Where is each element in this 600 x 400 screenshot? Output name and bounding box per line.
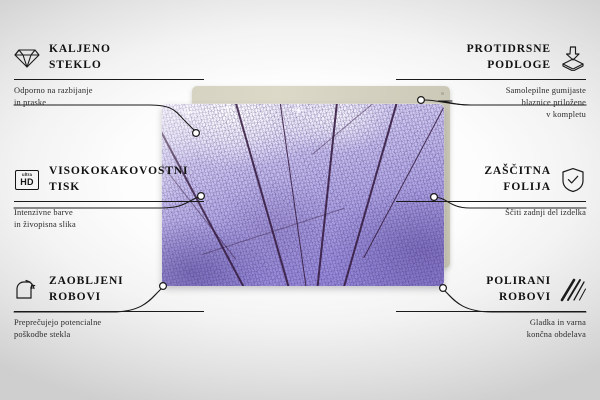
- feature-header: ultra HD VISOKOKAKOVOSTNI TISK: [14, 162, 204, 198]
- feature-rounded-edges: ZAOBLJENI ROBOVI Preprečujejo potencialn…: [14, 272, 204, 341]
- divider: [396, 79, 586, 80]
- feature-title: POLIRANI ROBOVI: [486, 274, 551, 305]
- divider: [396, 201, 586, 202]
- feature-header: POLIRANI ROBOVI: [396, 272, 586, 308]
- feature-anti-slip-pads: PROTIDRSNE PODLOGE Samolepilne gumijaste…: [396, 40, 586, 122]
- rounded-corner-arrow-icon: [14, 277, 40, 303]
- feature-desc-line: poškodbe stekla: [14, 329, 204, 341]
- feature-desc-line: in živopisna slika: [14, 219, 204, 231]
- ultra-hd-icon-main-label: HD: [20, 178, 33, 187]
- feature-desc-line: Ščiti zadnji del izdelka: [396, 207, 586, 219]
- feature-title: KALJENO STEKLO: [49, 42, 111, 73]
- feature-desc-line: v kompletu: [396, 109, 586, 121]
- feature-title: PROTIDRSNE PODLOGE: [467, 42, 551, 73]
- ultra-hd-icon: ultra HD: [14, 167, 40, 193]
- feature-title: VISOKOKAKOVOSTNI TISK: [49, 164, 188, 195]
- connector-dot-tempered-glass: [193, 130, 200, 137]
- divider: [14, 201, 204, 202]
- arrow-down-onto-pad-icon: [560, 45, 586, 71]
- feature-header: ZAŠČITNA FOLIJA: [396, 162, 586, 198]
- feature-high-quality-print: ultra HD VISOKOKAKOVOSTNI TISK Intenzivn…: [14, 162, 204, 231]
- feature-desc-line: Gladka in varna: [396, 317, 586, 329]
- feature-tempered-glass: KALJENO STEKLO Odporno na razbijanje in …: [14, 40, 204, 109]
- diagonal-lines-icon: [560, 277, 586, 303]
- feature-title: ZAŠČITNA FOLIJA: [484, 164, 551, 195]
- feature-desc-line: blaznice priložene: [396, 97, 586, 109]
- feature-desc-line: Preprečujejo potencialne: [14, 317, 204, 329]
- divider: [14, 79, 204, 80]
- divider: [14, 311, 204, 312]
- feature-polished-edges: POLIRANI ROBOVI Gladka in varna končna o…: [396, 272, 586, 341]
- feature-header: PROTIDRSNE PODLOGE: [396, 40, 586, 76]
- feature-desc-line: Samolepilne gumijaste: [396, 85, 586, 97]
- divider: [396, 311, 586, 312]
- feature-desc-line: Odporno na razbijanje: [14, 85, 204, 97]
- feature-desc-line: in praske: [14, 97, 204, 109]
- feature-header: ZAOBLJENI ROBOVI: [14, 272, 204, 308]
- shield-check-icon: [560, 167, 586, 193]
- feature-desc-line: Intenzivne barve: [14, 207, 204, 219]
- feature-header: KALJENO STEKLO: [14, 40, 204, 76]
- product-infographic: KALJENO STEKLO Odporno na razbijanje in …: [0, 0, 600, 400]
- feature-title: ZAOBLJENI ROBOVI: [49, 274, 124, 305]
- feature-desc-line: končna obdelava: [396, 329, 586, 341]
- diamond-icon: [14, 45, 40, 71]
- feature-protective-foil: ZAŠČITNA FOLIJA Ščiti zadnji del izdelka: [396, 162, 586, 219]
